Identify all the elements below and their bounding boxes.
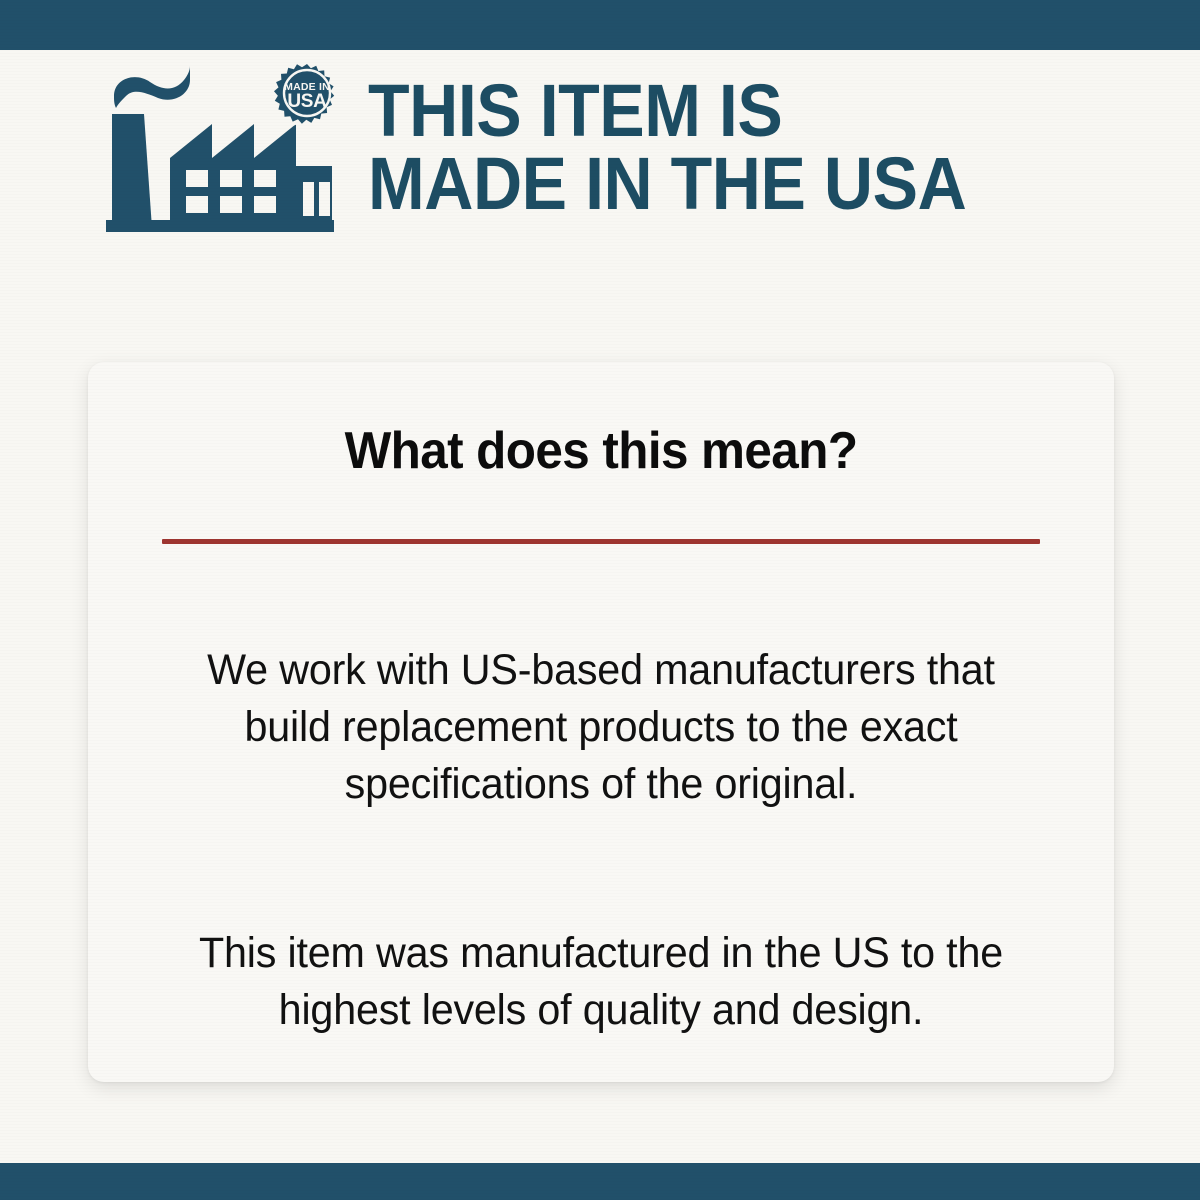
top-accent-bar xyxy=(0,0,1200,50)
card-divider xyxy=(162,539,1040,544)
headline-line-1: THIS ITEM IS xyxy=(368,75,966,148)
svg-text:USA: USA xyxy=(287,91,327,112)
card-paragraph-1: We work with US-based manufacturers that… xyxy=(164,642,1038,812)
card-title: What does this mean? xyxy=(114,362,1089,479)
page-title: THIS ITEM IS MADE IN THE USA xyxy=(368,75,966,220)
headline-line-2: MADE IN THE USA xyxy=(368,148,966,221)
info-card: What does this mean? We work with US-bas… xyxy=(88,362,1114,1082)
card-paragraph-2: This item was manufactured in the US to … xyxy=(164,925,1038,1039)
bottom-accent-bar xyxy=(0,1163,1200,1200)
factory-made-in-usa-icon: MADE IN USA xyxy=(100,58,340,238)
header: MADE IN USA THIS ITEM IS MADE IN THE USA xyxy=(0,48,1200,248)
